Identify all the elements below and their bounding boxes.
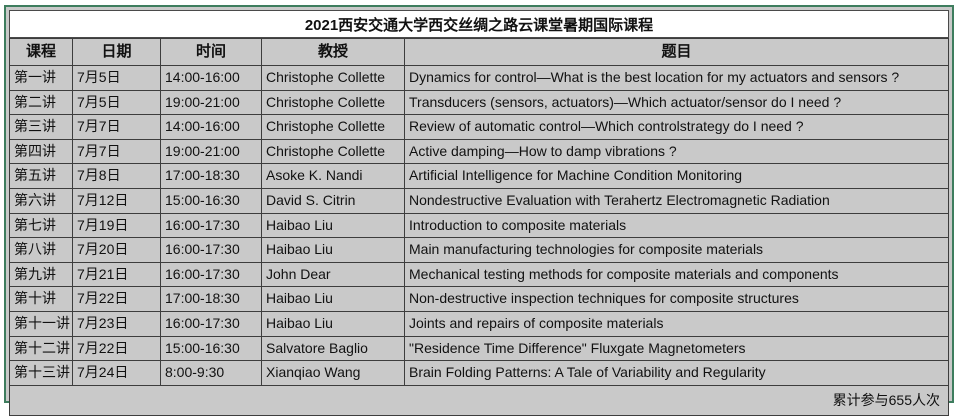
cell-time: 19:00-21:00 xyxy=(161,139,262,164)
column-header-topic: 题目 xyxy=(405,39,949,66)
cell-topic: Joints and repairs of composite material… xyxy=(405,311,949,336)
cell-topic: Introduction to composite materials xyxy=(405,213,949,238)
cell-time: 19:00-21:00 xyxy=(161,90,262,115)
cell-course: 第二讲 xyxy=(10,90,73,115)
table-row: 第十二讲7月22日15:00-16:30Salvatore Baglio"Res… xyxy=(10,336,949,361)
cell-professor: Salvatore Baglio xyxy=(262,336,405,361)
cell-course: 第九讲 xyxy=(10,262,73,287)
cell-professor: Haibao Liu xyxy=(262,213,405,238)
cell-topic: "Residence Time Difference" Fluxgate Mag… xyxy=(405,336,949,361)
table-row: 第八讲7月20日16:00-17:30Haibao LiuMain manufa… xyxy=(10,238,949,263)
cell-time: 15:00-16:30 xyxy=(161,188,262,213)
cell-professor: Haibao Liu xyxy=(262,311,405,336)
table-row: 第二讲7月5日19:00-21:00Christophe ColletteTra… xyxy=(10,90,949,115)
column-header-professor: 教授 xyxy=(262,39,405,66)
cell-date: 7月23日 xyxy=(73,311,161,336)
table-row: 第六讲7月12日15:00-16:30David S. CitrinNondes… xyxy=(10,188,949,213)
table-row: 第十三讲7月24日8:00-9:30Xianqiao WangBrain Fol… xyxy=(10,361,949,386)
cell-time: 17:00-18:30 xyxy=(161,164,262,189)
cell-topic: Active damping—How to damp vibrations ? xyxy=(405,139,949,164)
table-row: 第十一讲7月23日16:00-17:30Haibao LiuJoints and… xyxy=(10,311,949,336)
cell-professor: Xianqiao Wang xyxy=(262,361,405,386)
cell-date: 7月19日 xyxy=(73,213,161,238)
cell-time: 14:00-16:00 xyxy=(161,66,262,91)
cell-professor: Christophe Collette xyxy=(262,115,405,140)
page-title-band: 2021西安交通大学西交丝绸之路云课堂暑期国际课程 xyxy=(9,10,949,38)
cell-course: 第十三讲 xyxy=(10,361,73,386)
table-row: 第三讲7月7日14:00-16:00Christophe ColletteRev… xyxy=(10,115,949,140)
column-header-course: 课程 xyxy=(10,39,73,66)
cell-time: 15:00-16:30 xyxy=(161,336,262,361)
cell-professor: Christophe Collette xyxy=(262,139,405,164)
cell-professor: Christophe Collette xyxy=(262,90,405,115)
table-row: 第七讲7月19日16:00-17:30Haibao LiuIntroductio… xyxy=(10,213,949,238)
cell-course: 第六讲 xyxy=(10,188,73,213)
cell-course: 第七讲 xyxy=(10,213,73,238)
page-title: 2021西安交通大学西交丝绸之路云课堂暑期国际课程 xyxy=(305,14,653,35)
table-row: 第九讲7月21日16:00-17:30John DearMechanical t… xyxy=(10,262,949,287)
table-row: 第一讲7月5日14:00-16:00Christophe ColletteDyn… xyxy=(10,66,949,91)
table-body: 第一讲7月5日14:00-16:00Christophe ColletteDyn… xyxy=(10,66,949,386)
table-header-row: 课程 日期 时间 教授 题目 xyxy=(10,39,949,66)
attendance-total: 累计参与655人次 xyxy=(833,390,940,410)
cell-date: 7月8日 xyxy=(73,164,161,189)
schedule-page: 2021西安交通大学西交丝绸之路云课堂暑期国际课程 课程 日期 时间 教授 xyxy=(0,0,962,412)
cell-topic: Mechanical testing methods for composite… xyxy=(405,262,949,287)
cell-course: 第十二讲 xyxy=(10,336,73,361)
column-header-date: 日期 xyxy=(73,39,161,66)
cell-date: 7月22日 xyxy=(73,287,161,312)
course-schedule-table: 课程 日期 时间 教授 题目 第一讲7月5日14:00-16:00Christo… xyxy=(9,38,949,386)
cell-topic: Main manufacturing technologies for comp… xyxy=(405,238,949,263)
cell-course: 第八讲 xyxy=(10,238,73,263)
sheet-frame: 2021西安交通大学西交丝绸之路云课堂暑期国际课程 课程 日期 时间 教授 xyxy=(4,5,954,403)
cell-topic: Artificial Intelligence for Machine Cond… xyxy=(405,164,949,189)
cell-course: 第三讲 xyxy=(10,115,73,140)
cell-topic: Nondestructive Evaluation with Terahertz… xyxy=(405,188,949,213)
cell-date: 7月7日 xyxy=(73,115,161,140)
cell-time: 17:00-18:30 xyxy=(161,287,262,312)
cell-date: 7月5日 xyxy=(73,66,161,91)
cell-topic: Review of automatic control—Which contro… xyxy=(405,115,949,140)
cell-professor: Christophe Collette xyxy=(262,66,405,91)
cell-date: 7月7日 xyxy=(73,139,161,164)
table-row: 第五讲7月8日17:00-18:30Asoke K. NandiArtifici… xyxy=(10,164,949,189)
cell-date: 7月21日 xyxy=(73,262,161,287)
cell-date: 7月24日 xyxy=(73,361,161,386)
cell-date: 7月5日 xyxy=(73,90,161,115)
cell-professor: David S. Citrin xyxy=(262,188,405,213)
cell-course: 第十一讲 xyxy=(10,311,73,336)
cell-professor: Haibao Liu xyxy=(262,238,405,263)
sheet-inner: 2021西安交通大学西交丝绸之路云课堂暑期国际课程 课程 日期 时间 教授 xyxy=(9,10,949,398)
cell-time: 16:00-17:30 xyxy=(161,311,262,336)
cell-professor: Asoke K. Nandi xyxy=(262,164,405,189)
cell-course: 第四讲 xyxy=(10,139,73,164)
cell-date: 7月22日 xyxy=(73,336,161,361)
cell-topic: Non-destructive inspection techniques fo… xyxy=(405,287,949,312)
cell-topic: Brain Folding Patterns: A Tale of Variab… xyxy=(405,361,949,386)
footer-band: 累计参与655人次 xyxy=(9,386,949,416)
cell-course: 第十讲 xyxy=(10,287,73,312)
cell-course: 第五讲 xyxy=(10,164,73,189)
cell-professor: John Dear xyxy=(262,262,405,287)
cell-date: 7月12日 xyxy=(73,188,161,213)
cell-course: 第一讲 xyxy=(10,66,73,91)
cell-time: 16:00-17:30 xyxy=(161,262,262,287)
cell-date: 7月20日 xyxy=(73,238,161,263)
table-row: 第四讲7月7日19:00-21:00Christophe ColletteAct… xyxy=(10,139,949,164)
cell-professor: Haibao Liu xyxy=(262,287,405,312)
cell-topic: Dynamics for control—What is the best lo… xyxy=(405,66,949,91)
cell-time: 16:00-17:30 xyxy=(161,213,262,238)
cell-time: 8:00-9:30 xyxy=(161,361,262,386)
cell-topic: Transducers (sensors, actuators)—Which a… xyxy=(405,90,949,115)
cell-time: 14:00-16:00 xyxy=(161,115,262,140)
cell-time: 16:00-17:30 xyxy=(161,238,262,263)
table-row: 第十讲7月22日17:00-18:30Haibao LiuNon-destruc… xyxy=(10,287,949,312)
column-header-time: 时间 xyxy=(161,39,262,66)
